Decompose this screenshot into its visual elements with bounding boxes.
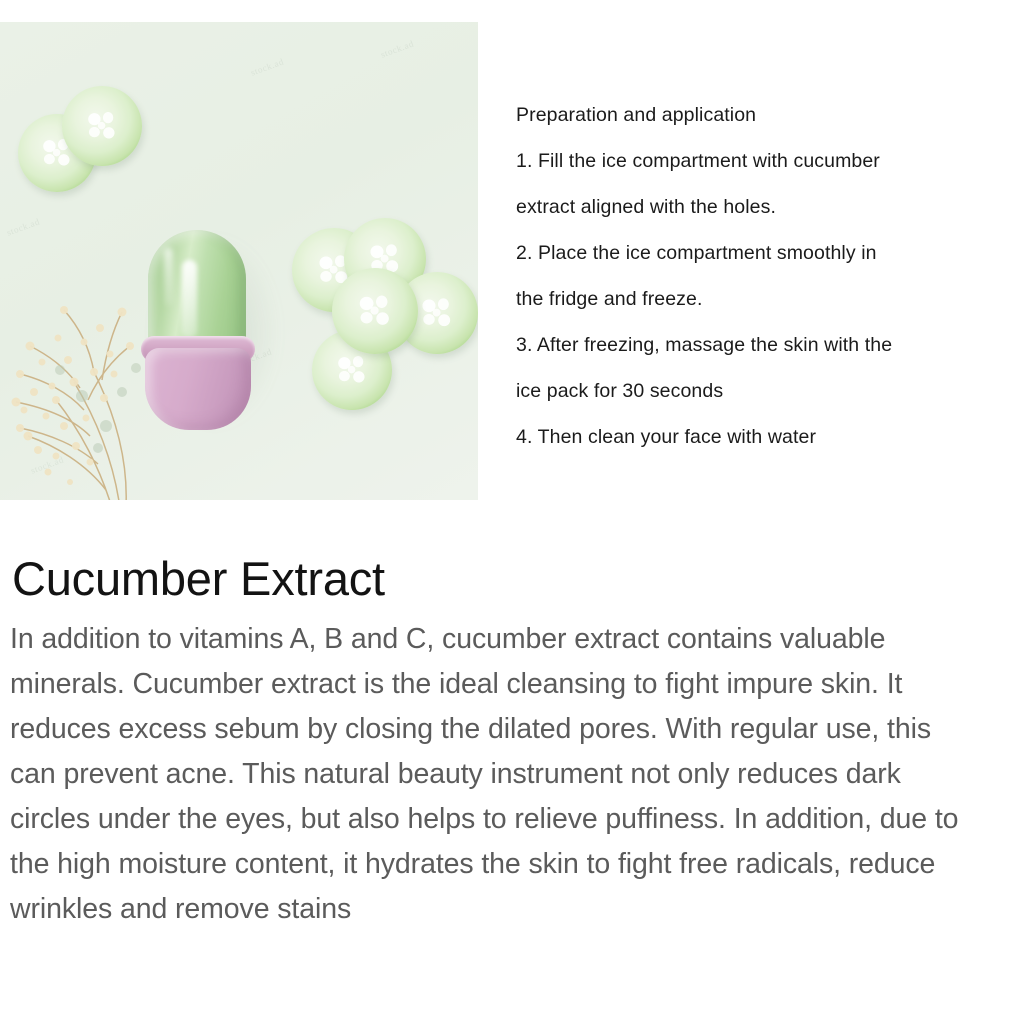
description-body: In addition to vitamins A, B and C, cucu… [0,613,1024,932]
instruction-step: extract aligned with the holes. [516,184,1016,230]
watermark-text: stock.ad [249,56,285,77]
ice-roller-holder [145,348,251,430]
instructions-panel: Preparation and application 1. Fill the … [516,92,1016,460]
instructions-heading: Preparation and application [516,92,1016,138]
description-section: Cucumber Extract In addition to vitamins… [0,545,1024,932]
instruction-step: 3. After freezing, massage the skin with… [516,322,1016,368]
product-photo: stock.ad stock.ad stock.ad stock.ad stoc… [0,22,478,500]
watermark-text: stock.ad [379,38,415,59]
instruction-step: 1. Fill the ice compartment with cucumbe… [516,138,1016,184]
cucumber-slice [332,268,418,354]
cucumber-slice [62,86,142,166]
ice-roller [138,230,258,430]
dome-highlight [182,260,197,338]
instruction-step: the fridge and freeze. [516,276,1016,322]
top-section: stock.ad stock.ad stock.ad stock.ad stoc… [0,0,1024,520]
page-title: Cucumber Extract [0,545,1024,613]
watermark-text: stock.ad [5,216,41,237]
instruction-step: 4. Then clean your face with water [516,414,1016,460]
dome-highlight [164,248,173,306]
instruction-step: ice pack for 30 seconds [516,368,1016,414]
instruction-step: 2. Place the ice compartment smoothly in [516,230,1016,276]
